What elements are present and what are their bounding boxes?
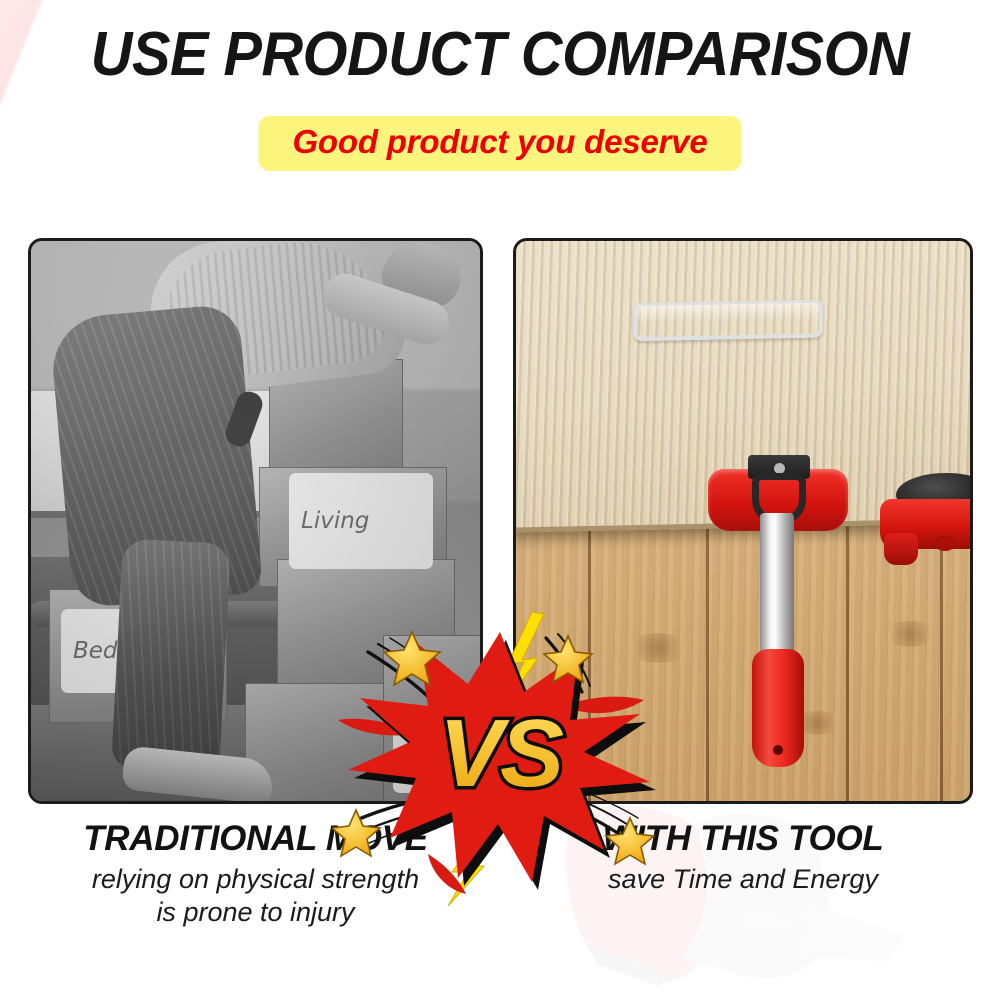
caption-with-this-tool: WITH THIS TOOL save Time and Energy (513, 818, 973, 896)
panel-traditional-move: Bedroom Living B (28, 238, 483, 804)
photo-vignette (31, 241, 480, 801)
caption-title-right: WITH THIS TOOL (513, 818, 973, 859)
roller-center-ring (934, 535, 956, 551)
cabinet-handle (632, 300, 823, 342)
caption-traditional-move: TRADITIONAL MOVE relying on physical str… (28, 818, 483, 929)
furniture-lifter-tool (708, 457, 848, 757)
lifter-chrome-rod (760, 513, 794, 663)
panel-with-this-tool (513, 238, 973, 804)
lifter-red-grip (752, 649, 804, 767)
subtitle-badge: Good product you deserve (258, 116, 741, 171)
caption-title-left: TRADITIONAL MOVE (28, 818, 483, 859)
furniture-roller-slider (880, 473, 970, 573)
roller-leg (884, 533, 918, 565)
wood-knot (626, 633, 690, 663)
caption-subtitle-left-line2: is prone to injury (28, 896, 483, 929)
page-title: USE PRODUCT COMPARISON (35, 24, 965, 86)
wood-knot (882, 621, 938, 647)
panel-captions: TRADITIONAL MOVE relying on physical str… (0, 818, 1000, 948)
caption-subtitle-right-line1: save Time and Energy (513, 863, 973, 896)
comparison-panels: Bedroom Living B (0, 238, 1000, 804)
with-this-tool-photo (516, 241, 970, 801)
traditional-move-photo: Bedroom Living B (31, 241, 480, 801)
caption-subtitle-left-line1: relying on physical strength (28, 863, 483, 896)
